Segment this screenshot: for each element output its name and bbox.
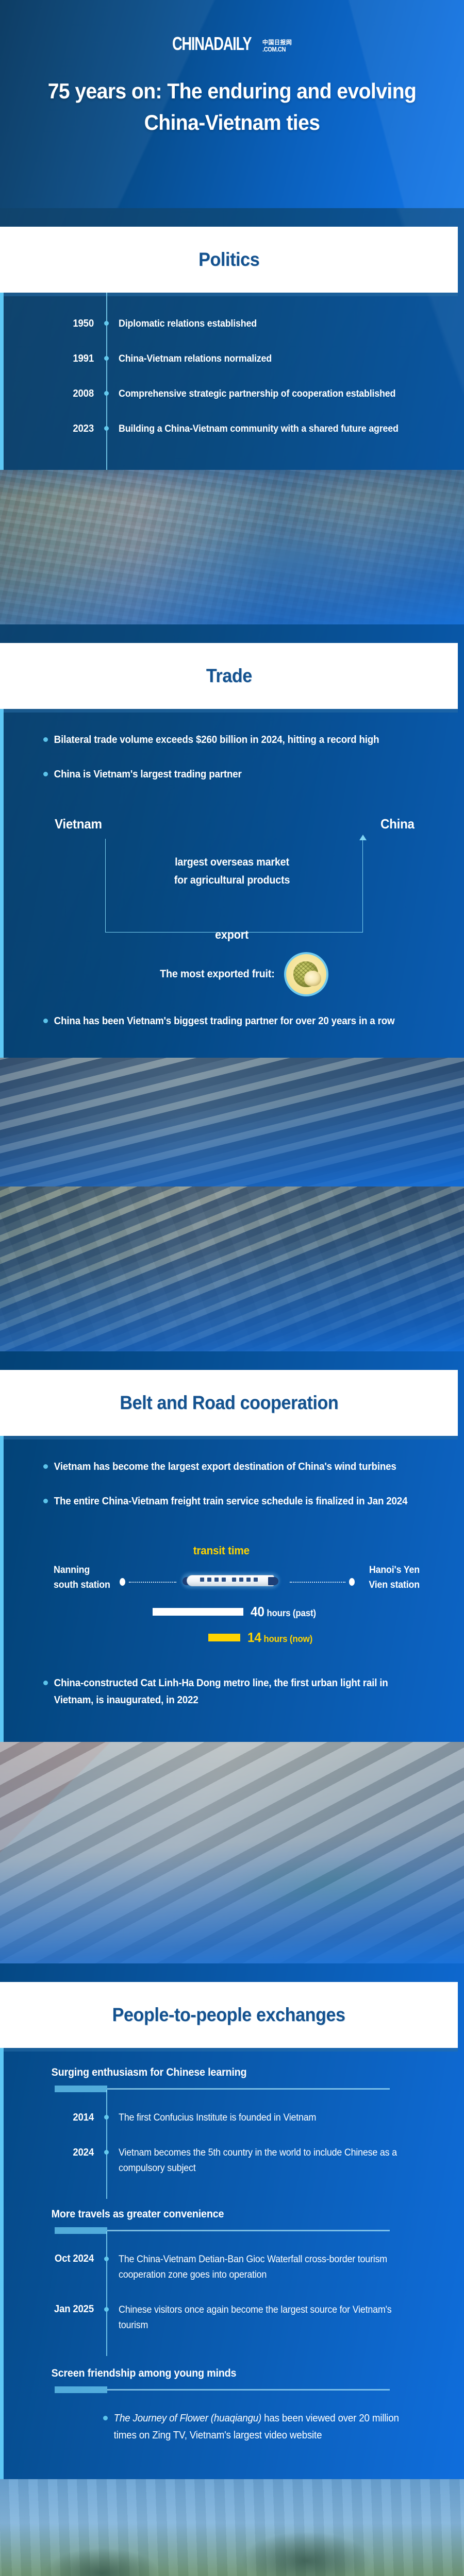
bullet-text: China is Vietnam's largest trading partn… [43,766,242,783]
show-title-italic: The Journey of Flower (huaqiangu) [114,2413,261,2424]
flow-middle-text: largest overseas market for agricultural… [14,853,450,889]
transit-node-right-icon [349,1578,355,1586]
belt-road-body: Vietnam has become the largest export de… [0,1436,464,1742]
most-exported-fruit-row: The most exported fruit: [0,952,464,996]
train-window [200,1578,204,1582]
transit-title: transit time [3,1544,439,1557]
train-window [207,1578,211,1582]
timeline-dot-cell [94,316,119,326]
timeline-text: China-Vietnam relations normalized [119,351,272,367]
transit-bar-now-label: 14 hours (now) [247,1630,312,1646]
train-window [246,1578,251,1582]
bullet-text: China has been Vietnam's biggest trading… [43,1013,394,1030]
belt-road-banner-wrap: Belt and Road cooperation [0,1351,464,1436]
transit-now-unit: hours (now) [263,1634,312,1644]
timeline-dot-icon [104,356,109,361]
people-bullets-screen: The Journey of Flower (huaqiangu) has be… [0,2391,464,2479]
timeline-dot-icon [104,2257,109,2261]
flow-arrow-icon [359,835,367,840]
subhead-screen-friendship: Screen friendship among young minds [0,2356,436,2380]
politics-banner-wrap: Politics [0,208,464,293]
train-window [222,1578,226,1582]
flow-middle-line1: largest overseas market [14,853,450,871]
subhead-rule-tab [55,2386,107,2393]
timeline-dot-cell [94,2110,119,2120]
transit-bar-past-fill [153,1608,243,1616]
timeline-year: 1950 [7,316,94,331]
transit-bar-past-label: 40 hours (past) [251,1604,316,1620]
photo-border-town [0,470,464,624]
train-window [254,1578,258,1582]
transit-bar-now: 14 hours (now) [208,1630,317,1646]
timeline-dot-icon [104,321,109,326]
transit-bar-now-fill [208,1634,240,1641]
subhead-rule [55,2389,390,2391]
people-timeline-travel: Oct 2024 The China-Vietnam Detian-Ban Gi… [0,2231,464,2356]
flow-middle-line2: for agricultural products [14,871,450,889]
flow-bottom-label: export [208,928,255,942]
timeline-dot-cell [94,421,119,431]
bullet-text: Bilateral trade volume exceeds $260 bill… [43,732,379,749]
timeline-year: 2014 [7,2110,94,2125]
section-banner-belt-road: Belt and Road cooperation [0,1370,458,1436]
timeline-year: Oct 2024 [7,2252,94,2265]
timeline-text: Comprehensive strategic partnership of c… [119,386,395,402]
timeline-item: Jan 2025 Chinese visitors once again bec… [0,2302,464,2333]
timeline-item: 1950 Diplomatic relations established [0,316,464,332]
people-body: Surging enthusiasm for Chinese learning … [0,2048,464,2479]
section-title-people: People-to-people exchanges [112,2004,345,2026]
timeline-text: Chinese visitors once again become the l… [119,2302,414,2333]
politics-timeline: 1950 Diplomatic relations established 19… [0,293,464,470]
timeline-text: Vietnam becomes the 5th country in the w… [119,2145,414,2176]
timeline-dot-cell [94,2302,119,2312]
transit-node-left-icon [120,1578,125,1586]
transit-time-diagram: transit time Nanning south station Hanoi… [0,1539,464,1668]
photo-freight-yard [0,1187,464,1351]
transit-station-right: Hanoi's Yen Vien station [361,1563,420,1592]
logo-cn-block: 中国日报网 .COM.CN [262,40,292,53]
fruit-label: The most exported fruit: [160,968,275,980]
belt-road-bullets: Vietnam has become the largest export de… [0,1436,464,1538]
timeline-year: 2023 [7,421,94,436]
bullet-item: The Journey of Flower (huaqiangu) has be… [0,2410,464,2444]
timeline-dot-icon [104,426,109,431]
train-window [214,1578,219,1582]
photo-container-port [0,1058,464,1187]
flow-bottom-row: export [0,928,464,942]
section-banner-politics: Politics [0,227,458,293]
section-title-belt-road: Belt and Road cooperation [120,1392,338,1414]
trade-bullets: Bilateral trade volume exceeds $260 bill… [0,709,464,811]
logo-domain: .COM.CN [262,46,286,53]
train-window [239,1578,243,1582]
transit-past-value: 40 [251,1604,264,1619]
trade-flow-diagram: Vietnam China largest overseas market fo… [0,816,464,945]
people-timeline-learning: 2014 The first Confucius Institute is fo… [0,2090,464,2199]
timeline-year: 1991 [7,351,94,366]
timeline-axis [106,2090,107,2199]
durian-icon [284,952,328,996]
timeline-axis [106,2231,107,2356]
timeline-year: 2024 [7,2145,94,2160]
transit-station-left: Nanning south station [54,1563,112,1592]
flow-destination-label: China [380,816,415,832]
transit-dashline-right [290,1582,345,1583]
trade-bullets-last: China has been Vietnam's biggest trading… [0,1002,464,1058]
transit-dashline-left [129,1582,176,1583]
timeline-item: 2014 The first Confucius Institute is fo… [0,2110,464,2126]
trade-body: Bilateral trade volume exceeds $260 bill… [0,709,464,1058]
logo-wordmark: CHINADAILY [172,34,251,53]
timeline-text: Building a China-Vietnam community with … [119,421,399,437]
belt-road-bullets-last: China-constructed Cat Linh-Ha Dong metro… [0,1673,464,1742]
bullet-text: China-constructed Cat Linh-Ha Dong metro… [43,1675,410,1709]
timeline-dot-cell [94,2145,119,2155]
transit-now-value: 14 [247,1630,261,1645]
logo-hanzi: 中国日报网 [262,40,292,46]
timeline-text: The first Confucius Institute is founded… [119,2110,316,2126]
section-banner-trade: Trade [0,643,458,709]
transit-bar-past: 40 hours (past) [153,1604,320,1620]
section-banner-people: People-to-people exchanges [0,1982,458,2048]
politics-body: 1950 Diplomatic relations established 19… [0,293,464,470]
timeline-dot-icon [104,2307,109,2312]
page-title: 75 years on: The enduring and evolving C… [40,76,424,139]
timeline-item: Oct 2024 The China-Vietnam Detian-Ban Gi… [0,2252,464,2283]
chinadaily-logo-top[interactable]: CHINADAILY 中国日报网 .COM.CN [172,37,292,53]
train-icon [181,1572,279,1589]
section-title-trade: Trade [206,665,252,687]
bullet-text: The Journey of Flower (huaqiangu) has be… [103,2410,410,2444]
train-nose-right [268,1577,278,1585]
transit-past-unit: hours (past) [267,1608,316,1618]
timeline-item: 2023 Building a China-Vietnam community … [0,421,464,437]
bullet-item: Bilateral trade volume exceeds $260 bill… [0,732,464,749]
subhead-more-travels: More travels as greater convenience [0,2199,436,2221]
subhead-chinese-learning: Surging enthusiasm for Chinese learning [0,2048,436,2079]
timeline-item: 2008 Comprehensive strategic partnership… [0,386,464,402]
timeline-year: Jan 2025 [7,2302,94,2316]
bullet-text: The entire China-Vietnam freight train s… [43,1493,407,1510]
timeline-dot-icon [104,2150,109,2155]
photo-cat-linh-metro [0,1742,464,1963]
timeline-dot-cell [94,386,119,396]
timeline-dot-icon [104,391,109,396]
bullet-text: Vietnam has become the largest export de… [43,1459,396,1476]
photo-detian-waterfall [0,2479,464,2576]
bullet-item: Vietnam has become the largest export de… [0,1459,464,1476]
timeline-dot-cell [94,351,119,361]
section-title-politics: Politics [198,249,259,270]
bullet-item: The entire China-Vietnam freight train s… [0,1493,464,1510]
timeline-dot-cell [94,2252,119,2261]
timeline-text: Diplomatic relations established [119,316,257,332]
flow-origin-label: Vietnam [55,816,102,832]
hero-header: CHINADAILY 中国日报网 .COM.CN 75 years on: Th… [0,0,464,208]
train-window [232,1578,236,1582]
people-banner-wrap: People-to-people exchanges [0,1963,464,2048]
trade-banner-wrap: Trade [0,624,464,709]
timeline-item: 2024 Vietnam becomes the 5th country in … [0,2145,464,2176]
timeline-item: 1991 China-Vietnam relations normalized [0,351,464,367]
bullet-item: China is Vietnam's largest trading partn… [0,766,464,783]
durian-slice [304,971,321,986]
timeline-year: 2008 [7,386,94,401]
bullet-item: China has been Vietnam's biggest trading… [0,1013,464,1030]
timeline-text: The China-Vietnam Detian-Ban Gioc Waterf… [119,2252,414,2283]
timeline-dot-icon [104,2115,109,2120]
bullet-item: China-constructed Cat Linh-Ha Dong metro… [0,1675,464,1709]
